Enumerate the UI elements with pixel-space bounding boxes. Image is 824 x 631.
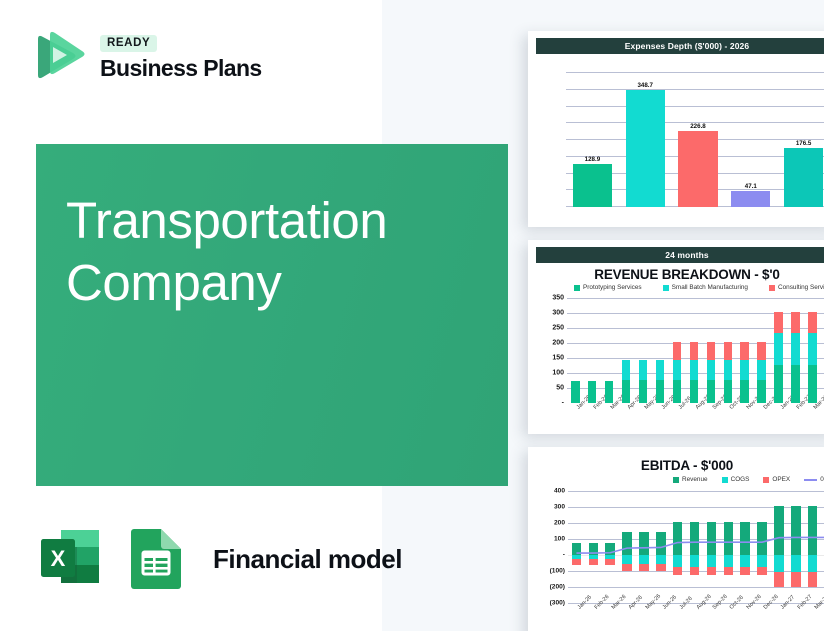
page-title-line-0: Transportation [66,190,496,252]
bar-segment [774,365,782,403]
bar-column: Jan-26 [571,298,579,403]
bar-segment [808,365,816,403]
bar-segment [724,380,732,403]
y-axis-tick: 150 [552,355,564,362]
revenue-breakdown-plot: 35030025020015010050-Jan-26Feb-26Mar-26A… [567,298,824,403]
bar-segment [673,380,681,403]
bar-segment [740,342,748,360]
ebitda-line-series [568,491,824,603]
bar-column: Sep-26 [707,298,715,403]
y-axis-tick: 300 [552,310,564,317]
bar-segment [639,380,647,403]
page-title: TransportationCompany [66,190,496,314]
bar-column: Mar-26 [605,298,613,403]
bar-segment [791,333,799,365]
bar-segment [690,380,698,403]
bar-column: Apr-26 [622,298,630,403]
legend-label: Consulting Services [778,284,824,291]
bar-segment [724,360,732,381]
y-axis-tick: 100 [552,370,564,377]
y-axis-tick: (100) [550,568,565,575]
bar-segment [571,381,579,404]
bar: 226.8 [678,131,717,207]
gridline [566,106,824,107]
bar-segment [808,333,816,365]
ready-badge: READY [100,35,157,52]
bar-segment [740,360,748,381]
bar-segment [791,312,799,334]
google-sheets-icon[interactable] [123,522,189,596]
bar-segment [690,342,698,360]
ebitda-panel[interactable]: EBITDA - $'000 RevenueCOGSOPEX0 40030020… [528,447,824,631]
brand-name: Business Plans [100,56,262,80]
bar-column: Oct-26 [724,298,732,403]
revenue-breakdown-legend: Prototyping ServicesSmall Batch Manufact… [574,284,824,291]
bar-column: Feb-26 [588,298,596,403]
page-title-line-1: Company [66,252,496,314]
gridline [566,72,824,73]
legend-swatch [663,285,669,291]
bar-segment [639,360,647,381]
ebitda-title: EBITDA - $'000 [536,458,824,473]
bar-segment [707,380,715,403]
svg-text:X: X [51,546,66,571]
footer-row: X Financial model [33,522,402,596]
revenue-breakdown-title: REVENUE BREAKDOWN - $'0 [536,267,824,282]
bar-segment [707,342,715,360]
bar-value-label: 226.8 [690,123,705,130]
brand-text: READY Business Plans [100,31,262,80]
bar-segment [740,380,748,403]
legend-item-3: 0 [804,476,824,483]
bar-segment [757,360,765,381]
y-axis-tick: 50 [556,385,564,392]
bar-segment [673,360,681,381]
bar: 47.1 [731,191,770,207]
legend-label: Small Batch Manufacturing [672,284,748,291]
legend-label: OPEX [772,476,790,483]
y-axis-tick: (300) [550,600,565,607]
legend-swatch [673,477,679,483]
panel2-header-bar: 24 months [536,247,824,263]
legend-swatch [769,285,775,291]
bar-segment [757,380,765,403]
bar-value-label: 348.7 [637,82,652,89]
revenue-breakdown-panel[interactable]: 24 months REVENUE BREAKDOWN - $'0 Protot… [528,240,824,434]
bar: 176.5 [784,148,823,207]
y-axis-tick: 400 [554,488,565,495]
hero-green-block: TransportationCompany [36,144,508,486]
y-axis-tick: - [563,552,565,559]
brand-logo[interactable]: READY Business Plans [28,27,262,85]
bar-column: Jan-27 [774,298,782,403]
ebitda-plot: 400300200100-(100)(200)(300)Jan-26Feb-26… [568,491,824,603]
bar-segment [757,342,765,360]
bar-column: Aug-26 [690,298,698,403]
bar-segment [588,381,596,404]
legend-item-0: Revenue [673,476,708,483]
bar-segment [622,380,630,403]
y-axis-tick: 350 [552,295,564,302]
bar-segment [724,342,732,360]
bar-segment [808,312,816,334]
bar-column: Feb-27 [791,298,799,403]
legend-item-1: Small Batch Manufacturing [663,284,748,291]
legend-label: 0 [820,476,824,483]
bar-segment [656,380,664,403]
legend-label: COGS [731,476,750,483]
bar-column: May-26 [639,298,647,403]
legend-swatch [722,477,728,483]
legend-item-0: Prototyping Services [574,284,642,291]
expenses-depth-chart: 128.9348.7226.847.1176.5 [566,73,824,207]
bar-segment [622,360,630,381]
bar-value-label: 47.1 [745,183,757,190]
legend-swatch [763,477,769,483]
legend-label: Revenue [682,476,708,483]
legend-swatch [804,479,817,481]
ebitda-legend: RevenueCOGSOPEX0 [673,476,824,483]
bar-column: Mar-27 [808,298,816,403]
bar-column: Jul-26 [673,298,681,403]
microsoft-excel-icon[interactable]: X [33,522,107,596]
bar-segment [673,342,681,360]
financial-model-label: Financial model [213,544,402,575]
bar-column: Jun-26 [656,298,664,403]
bar-segment [656,360,664,381]
legend-item-2: OPEX [763,476,790,483]
bar-segment [791,365,799,403]
slide-canvas: READY Business Plans TransportationCompa… [0,0,824,631]
bar-segment [774,333,782,365]
y-axis-tick: 250 [552,325,564,332]
bar-column: Dec-26 [757,298,765,403]
expenses-depth-panel[interactable]: Expenses Depth ($'000) - 2026 128.9348.7… [528,31,824,227]
bar-segment [690,360,698,381]
y-axis-tick: (200) [550,584,565,591]
bar-segment [707,360,715,381]
bar-value-label: 176.5 [796,140,811,147]
bar-segment [605,381,613,404]
gridline [566,89,824,90]
y-axis-tick: 300 [554,504,565,511]
y-axis-tick: 200 [552,340,564,347]
bar: 128.9 [573,164,612,207]
y-axis-tick: 100 [554,536,565,543]
play-triangle-logo-icon [28,27,86,85]
bar: 348.7 [626,90,665,207]
panel1-header-bar: Expenses Depth ($'000) - 2026 [536,38,824,54]
legend-label: Prototyping Services [583,284,642,291]
bar-segment [774,312,782,334]
legend-item-1: COGS [722,476,750,483]
y-axis-tick: 200 [554,520,565,527]
legend-swatch [574,285,580,291]
bar-column: Nov-26 [740,298,748,403]
y-axis-tick: - [562,400,564,407]
legend-item-2: Consulting Services [769,284,824,291]
bar-value-label: 128.9 [585,156,600,163]
